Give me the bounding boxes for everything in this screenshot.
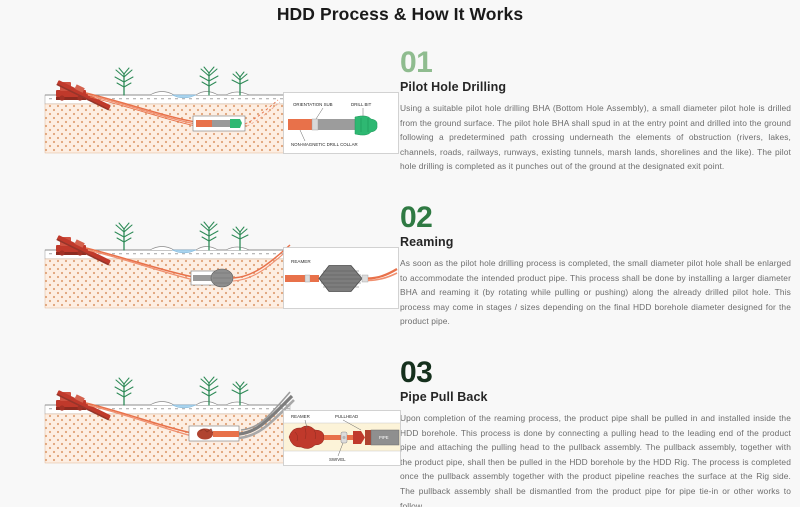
step-02-detail-box: REAMER — [283, 247, 399, 309]
step-02-visual: REAMER — [0, 203, 400, 328]
step-01-heading: Pilot Hole Drilling — [400, 80, 791, 94]
label-reamer: REAMER — [291, 414, 310, 419]
step-01-text: 01 Pilot Hole Drilling Using a suitable … — [400, 48, 795, 174]
step-01-visual: ORIENTATION SUB DRILL BIT NON-MAGNETIC D… — [0, 48, 400, 173]
step-03-visual: REAMER PULLHEAD SWIVEL PIPE — [0, 358, 400, 488]
label-swivel: SWIVEL — [329, 457, 346, 462]
step-03-text: 03 Pipe Pull Back Upon completion of the… — [400, 358, 795, 507]
step-02-body: As soon as the pilot hole drilling proce… — [400, 256, 791, 329]
step-02-heading: Reaming — [400, 235, 791, 249]
step-03-body: Upon completion of the reaming process, … — [400, 411, 791, 507]
step-row-02: REAMER 02 Reaming As soon as the pilot h… — [0, 203, 800, 329]
step-01-detail-box: ORIENTATION SUB DRILL BIT NON-MAGNETIC D… — [283, 92, 399, 154]
label-reamer: REAMER — [291, 259, 311, 264]
page-title: HDD Process & How It Works — [0, 0, 800, 26]
step-03-detail-box: REAMER PULLHEAD SWIVEL PIPE — [283, 410, 401, 466]
label-drill-bit: DRILL BIT — [351, 102, 372, 107]
hdd-process-infographic: HDD Process & How It Works — [0, 0, 800, 507]
step-02-number: 02 — [400, 203, 791, 233]
label-non-magnetic-drill-collar: NON-MAGNETIC DRILL COLLAR — [291, 142, 358, 147]
step-03-heading: Pipe Pull Back — [400, 390, 791, 404]
step-03-number: 03 — [400, 358, 791, 388]
step-01-number: 01 — [400, 48, 791, 78]
step-row-01: ORIENTATION SUB DRILL BIT NON-MAGNETIC D… — [0, 48, 800, 174]
step-row-03: REAMER PULLHEAD SWIVEL PIPE 03 Pipe Pull… — [0, 358, 800, 507]
step-02-text: 02 Reaming As soon as the pilot hole dri… — [400, 203, 795, 329]
step-01-body: Using a suitable pilot hole drilling BHA… — [400, 101, 791, 174]
label-pullhead: PULLHEAD — [335, 414, 358, 419]
label-pipe: PIPE — [379, 435, 389, 440]
label-orientation-sub: ORIENTATION SUB — [293, 102, 333, 107]
